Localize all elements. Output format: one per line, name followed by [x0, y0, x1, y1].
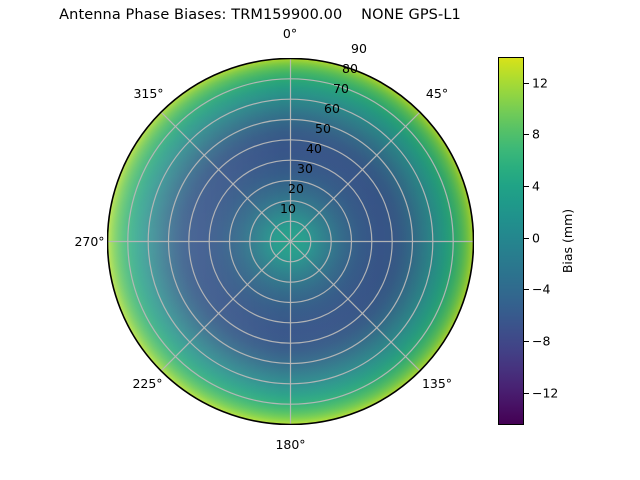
r-tick-label-90: 90 — [341, 41, 377, 56]
colorbar-tick-label-minus12: −12 — [532, 386, 558, 401]
polar-plot-svg — [107, 58, 474, 425]
colorbar-tick-minus8 — [524, 341, 529, 342]
r-tick-label-60: 60 — [314, 101, 350, 116]
r-tick-label-30: 30 — [287, 161, 323, 176]
colorbar-tick-label-minus4: −4 — [532, 282, 550, 297]
colorbar-gradient — [498, 57, 524, 425]
colorbar-tick-4 — [524, 186, 529, 187]
theta-tick-label-315: 315° — [121, 86, 176, 101]
r-tick-label-50: 50 — [305, 121, 341, 136]
polar-axes[interactable]: 10 20 30 40 50 60 70 80 90 — [107, 58, 474, 425]
theta-tick-label-180: 180° — [263, 437, 318, 452]
colorbar-tick-minus12 — [524, 393, 529, 394]
figure-canvas: Antenna Phase Biases: TRM159900.00 NONE … — [0, 0, 640, 480]
colorbar-tick-label-0: 0 — [532, 231, 540, 246]
angular-gridlines — [108, 59, 474, 425]
r-tick-label-20: 20 — [278, 181, 314, 196]
r-tick-label-70: 70 — [323, 81, 359, 96]
colorbar-axis-label: Bias (mm) — [560, 209, 575, 273]
r-tick-label-40: 40 — [296, 141, 332, 156]
theta-tick-label-225: 225° — [120, 376, 175, 391]
r-tick-label-10: 10 — [270, 201, 306, 216]
theta-tick-label-270: 270° — [62, 234, 117, 249]
colorbar-tick-0 — [524, 238, 529, 239]
colorbar-tick-8 — [524, 134, 529, 135]
colorbar-tick-label-minus8: −8 — [532, 334, 550, 349]
colorbar[interactable]: 12 8 4 0 −4 −8 −12 — [498, 57, 524, 425]
colorbar-tick-label-4: 4 — [532, 179, 540, 194]
colorbar-tick-label-8: 8 — [532, 127, 540, 142]
theta-tick-label-0: 0° — [265, 26, 315, 41]
colorbar-tick-label-12: 12 — [532, 76, 548, 91]
theta-tick-label-135: 135° — [412, 376, 462, 391]
theta-tick-label-45: 45° — [412, 86, 462, 101]
colorbar-tick-12 — [524, 83, 529, 84]
colorbar-tick-minus4 — [524, 289, 529, 290]
chart-title: Antenna Phase Biases: TRM159900.00 NONE … — [0, 7, 520, 23]
r-tick-label-80: 80 — [332, 61, 368, 76]
